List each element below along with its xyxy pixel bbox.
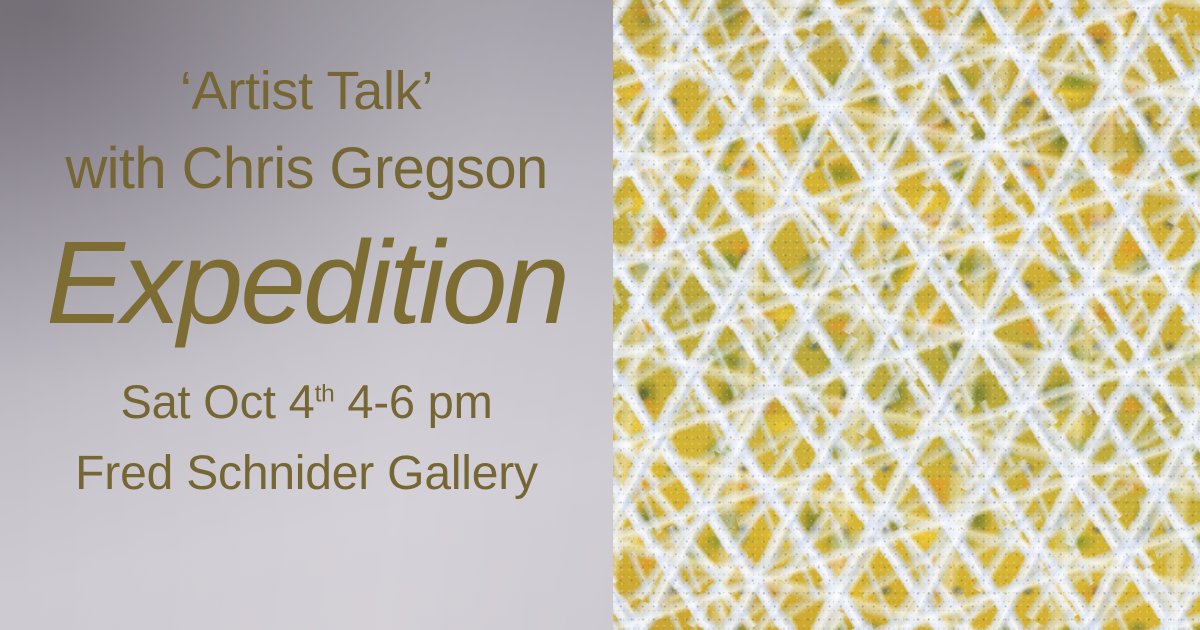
artwork-dark-fleck-layer xyxy=(613,0,1200,630)
event-date-time: Sat Oct 4th 4-6 pm xyxy=(0,378,613,425)
event-poster: ‘Artist Talk’ with Chris Gregson Expedit… xyxy=(0,0,1200,630)
poster-text-stack: ‘Artist Talk’ with Chris Gregson Expedit… xyxy=(0,0,613,630)
artwork-image xyxy=(613,0,1200,630)
event-time-suffix: 4-6 pm xyxy=(335,375,493,428)
exhibition-title: Expedition xyxy=(0,224,613,342)
headline-with-chris-gregson: with Chris Gregson xyxy=(0,140,613,198)
poster-text-panel: ‘Artist Talk’ with Chris Gregson Expedit… xyxy=(0,0,613,630)
event-date-ordinal: th xyxy=(315,380,335,407)
headline-artist-talk: ‘Artist Talk’ xyxy=(0,64,613,118)
venue-name: Fred Schnider Gallery xyxy=(0,450,613,498)
event-date-prefix: Sat Oct 4 xyxy=(120,375,314,428)
